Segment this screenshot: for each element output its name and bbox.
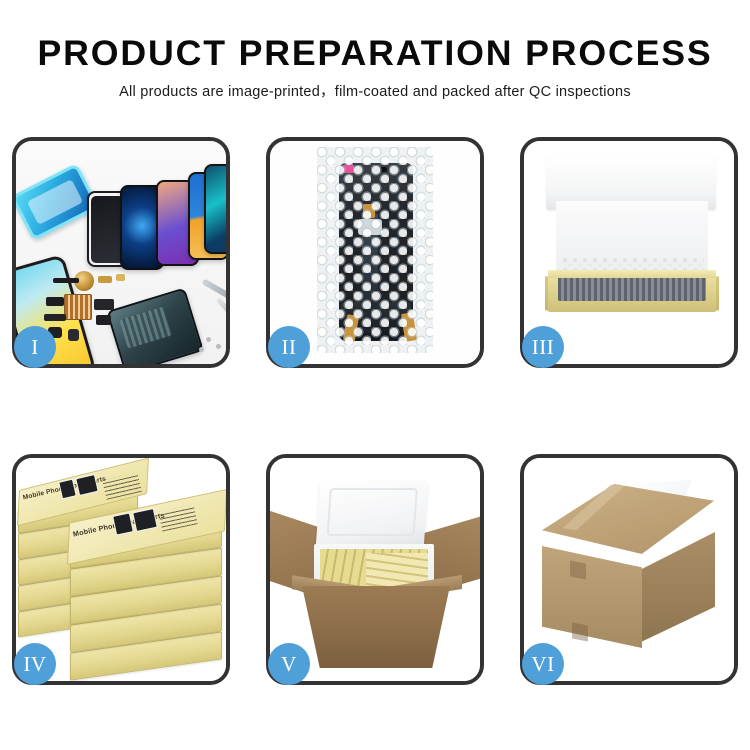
camera-module-part	[68, 329, 79, 341]
carton-side-face	[641, 532, 715, 642]
carton-handle-tab	[570, 560, 586, 579]
gold-connector-part	[116, 274, 125, 281]
step-panel-3[interactable]: III	[520, 137, 738, 368]
carton-top-face	[542, 484, 714, 554]
screw-part	[199, 347, 204, 352]
step-badge-6: VI	[522, 643, 564, 685]
bubble-wrap-bag	[317, 147, 433, 353]
ic-chip-part	[64, 294, 92, 320]
step-badge-3: III	[522, 326, 564, 368]
carton-body	[302, 586, 450, 668]
flex-strip-4	[96, 315, 111, 325]
product-preparation-infographic: PRODUCT PREPARATION PROCESS All products…	[0, 0, 750, 750]
page-title: PRODUCT PREPARATION PROCESS	[0, 34, 750, 74]
carton-front-face	[542, 546, 642, 648]
page-subtitle: All products are image-printed，film-coat…	[0, 83, 750, 101]
phone-back-housing	[106, 287, 204, 364]
step-panel-1[interactable]: I	[12, 137, 230, 368]
step-badge-5: V	[268, 643, 310, 685]
box-front-lip	[548, 270, 716, 278]
step-badge-1: I	[14, 326, 56, 368]
process-steps-grid: I II	[12, 137, 738, 685]
bubble-texture	[317, 147, 433, 353]
flex-strip-1	[46, 297, 64, 306]
step-panel-6[interactable]: VI	[520, 454, 738, 685]
flex-strip-3	[94, 299, 114, 310]
box-window-screen	[112, 512, 134, 535]
flex-strip-2	[44, 314, 66, 321]
earpiece-part	[53, 278, 79, 283]
step-panel-4[interactable]: Mobile Phone Spare Parts Mobile Phone Sp…	[12, 454, 230, 685]
carton-handle-tab	[572, 622, 588, 641]
flex-cable-part	[98, 276, 112, 283]
grey-foam-padding	[558, 276, 706, 301]
phone-screen-teal	[204, 164, 226, 254]
screw-part	[206, 337, 211, 342]
screwdriver-tool	[216, 297, 226, 326]
header: PRODUCT PREPARATION PROCESS All products…	[0, 0, 750, 101]
screw-part	[216, 344, 221, 349]
step-panel-5[interactable]: V	[266, 454, 484, 685]
styrofoam-lid	[316, 480, 429, 550]
step-badge-4: IV	[14, 643, 56, 685]
step-badge-2: II	[268, 326, 310, 368]
step-panel-2[interactable]: II	[266, 137, 484, 368]
